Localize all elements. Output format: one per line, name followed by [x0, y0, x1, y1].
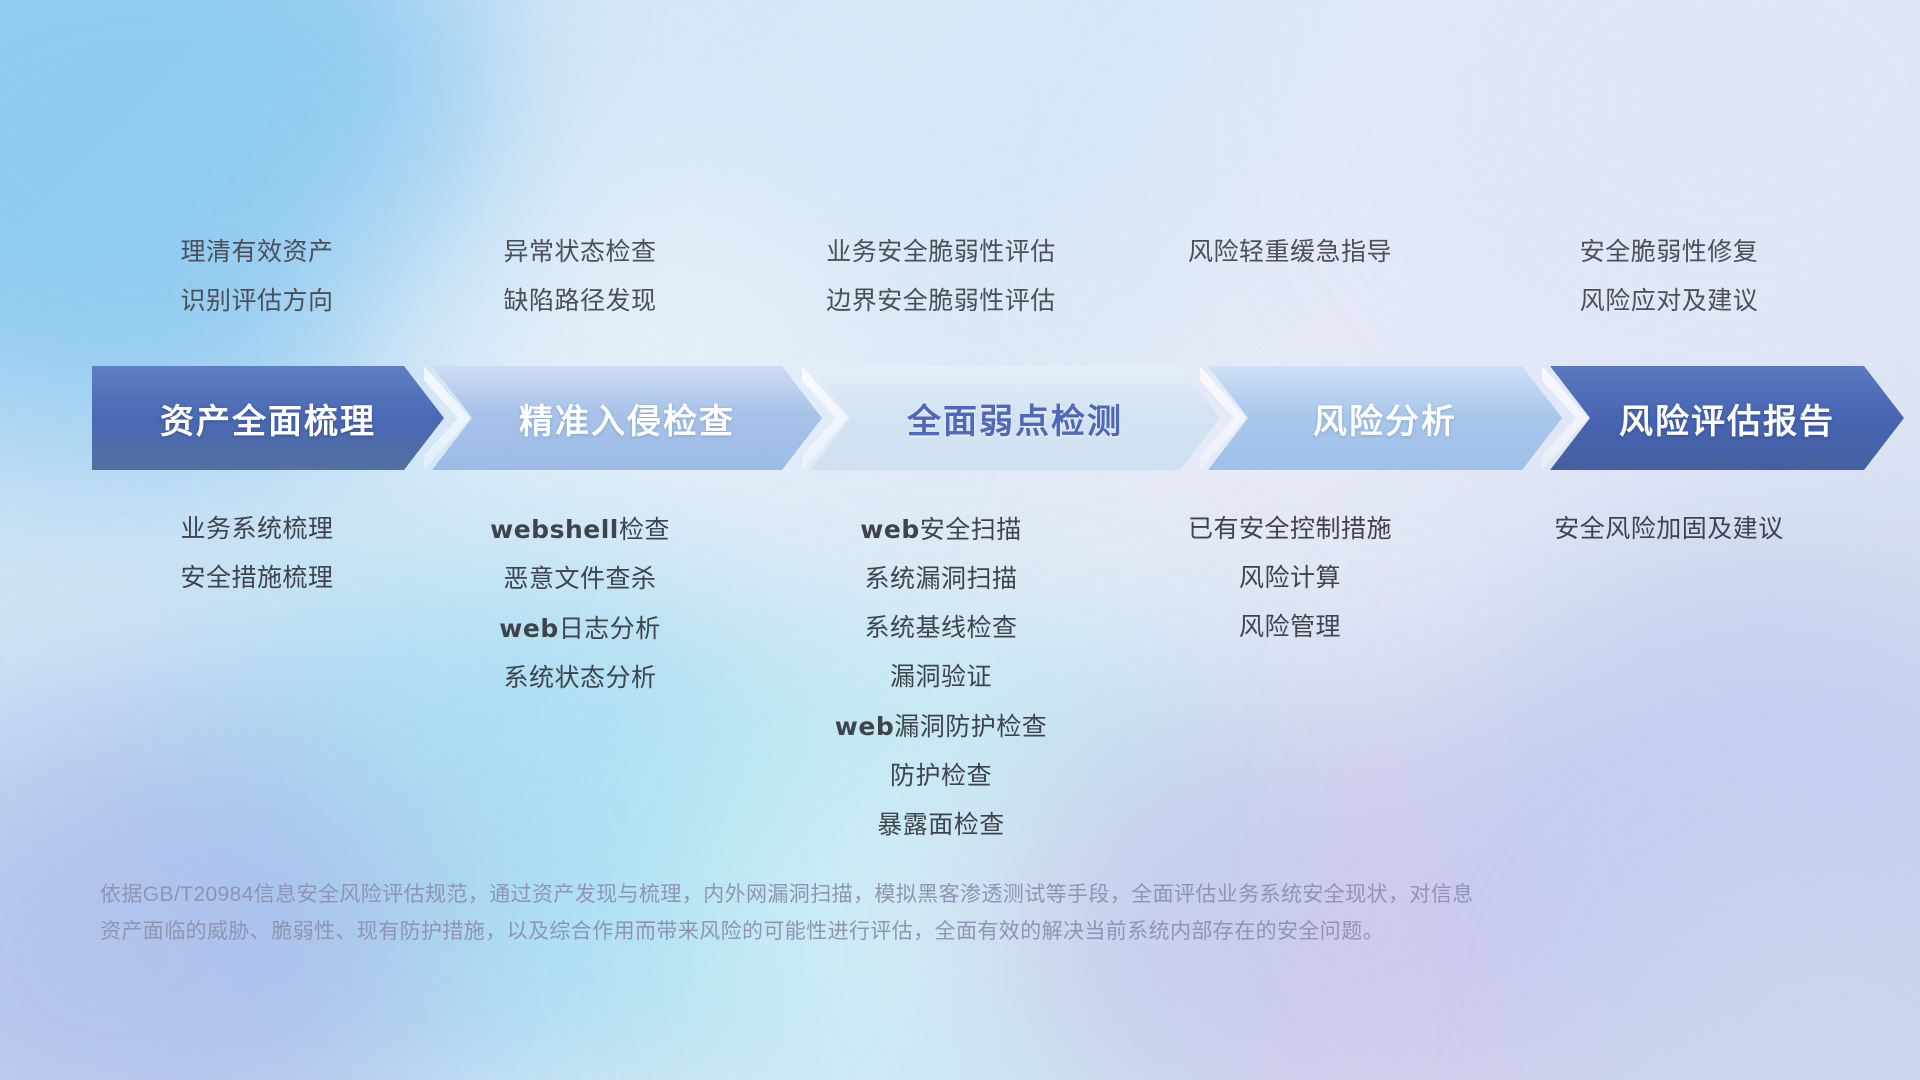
list-item: 暴露面检查	[766, 801, 1116, 850]
list-item: 风险计算	[1120, 554, 1460, 603]
items-stage-5: 安全风险加固及建议	[1504, 505, 1834, 554]
top-notes-stage-5: 安全脆弱性修复 风险应对及建议	[1504, 228, 1834, 326]
chevron-stage-4[interactable]: 风险分析	[1208, 366, 1562, 470]
top-note: 业务安全脆弱性评估	[766, 228, 1116, 277]
top-notes-stage-1: 理清有效资产 识别评估方向	[92, 228, 422, 326]
list-item: web安全扫描	[766, 505, 1116, 555]
items-stage-2: webshell检查 恶意文件查杀 web日志分析 系统状态分析	[415, 505, 745, 703]
list-item-prefix: web	[499, 614, 558, 643]
top-note: 边界安全脆弱性评估	[766, 277, 1116, 326]
chevron-stage-1-title: 资产全面梳理	[160, 394, 376, 443]
footer-line-1: 依据GB/T20984信息安全风险评估规范，通过资产发现与梳理，内外网漏洞扫描，…	[100, 876, 1660, 913]
list-item: 安全风险加固及建议	[1504, 505, 1834, 554]
list-item: webshell检查	[415, 505, 745, 555]
list-item: 恶意文件查杀	[415, 555, 745, 604]
items-stage-3: web安全扫描 系统漏洞扫描 系统基线检查 漏洞验证 web漏洞防护检查 防护检…	[766, 505, 1116, 850]
list-item: 安全措施梳理	[92, 554, 422, 603]
list-item-label: 漏洞防护检查	[894, 713, 1047, 741]
chevron-stage-5[interactable]: 风险评估报告	[1550, 366, 1904, 470]
top-notes-stage-3: 业务安全脆弱性评估 边界安全脆弱性评估	[766, 228, 1116, 326]
chevron-stage-4-title: 风险分析	[1313, 394, 1457, 443]
list-item: 防护检查	[766, 752, 1116, 801]
chevron-stage-3-title: 全面弱点检测	[907, 394, 1123, 443]
list-item-label: 安全扫描	[920, 516, 1022, 544]
list-item: 系统基线检查	[766, 604, 1116, 653]
top-notes-stage-2: 异常状态检查 缺陷路径发现	[415, 228, 745, 326]
top-note: 异常状态检查	[415, 228, 745, 277]
list-item: 系统状态分析	[415, 654, 745, 703]
top-note: 缺陷路径发现	[415, 277, 745, 326]
top-note: 安全脆弱性修复	[1504, 228, 1834, 277]
list-item-prefix: web	[860, 515, 919, 544]
chevron-stage-1[interactable]: 资产全面梳理	[92, 366, 444, 470]
list-item: 已有安全控制措施	[1120, 505, 1460, 554]
items-stage-1: 业务系统梳理 安全措施梳理	[92, 505, 422, 603]
top-note: 风险应对及建议	[1504, 277, 1834, 326]
top-note: 识别评估方向	[92, 277, 422, 326]
chevron-stage-5-title: 风险评估报告	[1619, 394, 1835, 443]
list-item: 风险管理	[1120, 603, 1460, 652]
chevron-stage-2-title: 精准入侵检查	[519, 394, 735, 443]
list-item-prefix: web	[835, 712, 894, 741]
list-item-label: 日志分析	[559, 615, 661, 643]
process-chevron-band: 资产全面梳理 精准入侵检查 全面弱点检测 风险分析 风险评估报告	[92, 366, 1852, 470]
top-notes-row: 理清有效资产 识别评估方向 异常状态检查 缺陷路径发现 业务安全脆弱性评估 边界…	[0, 228, 1920, 338]
list-item: 业务系统梳理	[92, 505, 422, 554]
list-item: 漏洞验证	[766, 653, 1116, 702]
list-item: 系统漏洞扫描	[766, 555, 1116, 604]
list-item-prefix: webshell	[490, 515, 619, 544]
top-note: 风险轻重缓急指导	[1120, 228, 1460, 277]
list-item: web漏洞防护检查	[766, 702, 1116, 752]
chevron-stage-2[interactable]: 精准入侵检查	[432, 366, 822, 470]
footer-line-2: 资产面临的威胁、脆弱性、现有防护措施，以及综合作用而带来风险的可能性进行评估，全…	[100, 913, 1660, 950]
list-item: web日志分析	[415, 604, 745, 654]
chevron-stage-3[interactable]: 全面弱点检测	[810, 366, 1220, 470]
top-note: 理清有效资产	[92, 228, 422, 277]
top-notes-stage-4: 风险轻重缓急指导	[1120, 228, 1460, 277]
footer-description: 依据GB/T20984信息安全风险评估规范，通过资产发现与梳理，内外网漏洞扫描，…	[100, 876, 1660, 950]
list-item-label: 检查	[619, 516, 670, 544]
items-stage-4: 已有安全控制措施 风险计算 风险管理	[1120, 505, 1460, 652]
